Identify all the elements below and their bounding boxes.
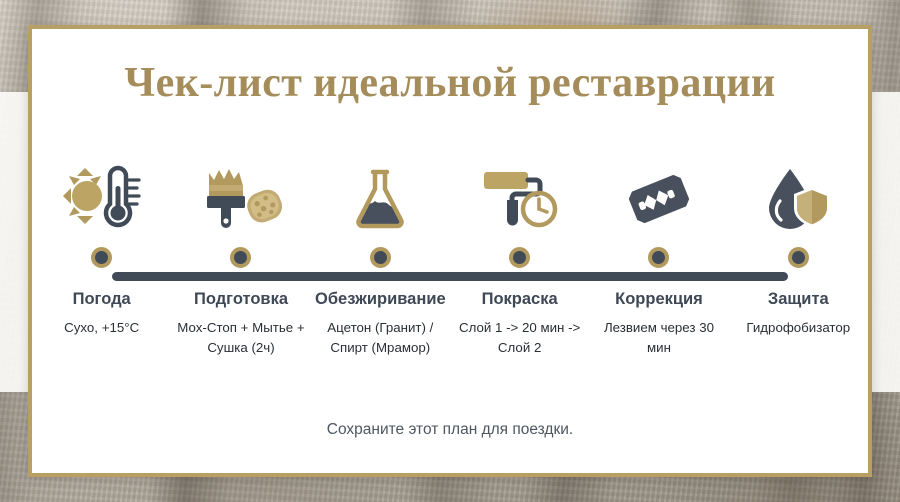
step-label: Обезжиривание — [315, 290, 446, 309]
step-description: Сухо, +15°C — [64, 318, 139, 338]
razor-blade-icon — [613, 155, 705, 243]
step-label: Покраска — [482, 290, 558, 309]
page-title: Чек-лист идеальной реставрации — [32, 59, 868, 107]
step-label: Защита — [768, 290, 829, 309]
step-description: Ацетон (Гранит) / Спирт (Мрамор) — [314, 318, 446, 358]
step-description: Гидрофобизатор — [746, 318, 850, 338]
timeline-node[interactable] — [91, 247, 112, 268]
step-label: Погода — [73, 290, 131, 309]
timeline-node[interactable] — [648, 247, 669, 268]
brush-sponge-icon — [195, 155, 287, 243]
timeline-node[interactable] — [230, 247, 251, 268]
water-drop-shield-icon — [752, 155, 844, 243]
footer-note: Сохраните этот план для поездки. — [32, 421, 868, 439]
step-description: Мох-Стоп + Мытье + Сушка (2ч) — [175, 318, 307, 358]
flask-icon — [334, 155, 426, 243]
timeline-step-degreasing[interactable]: Обезжиривание Ацетон (Гранит) / Спирт (М… — [311, 155, 450, 358]
sun-thermometer-icon — [56, 155, 148, 243]
checklist-card: Чек-лист идеальной реставрации — [28, 25, 872, 477]
paint-roller-clock-icon — [474, 155, 566, 243]
timeline-node[interactable] — [509, 247, 530, 268]
timeline-step-preparation[interactable]: Подготовка Мох-Стоп + Мытье + Сушка (2ч) — [171, 155, 310, 358]
timeline-step-protection[interactable]: Защита Гидрофобизатор — [729, 155, 868, 358]
timeline-step-correction[interactable]: Коррекция Лезвием через 30 мин — [589, 155, 728, 358]
timeline-steps: Погода Сухо, +15°C — [32, 155, 868, 358]
step-label: Коррекция — [615, 290, 703, 309]
timeline-node[interactable] — [370, 247, 391, 268]
timeline-step-painting[interactable]: Покраска Слой 1 -> 20 мин -> Слой 2 — [450, 155, 589, 358]
step-description: Лезвием через 30 мин — [593, 318, 725, 358]
timeline: Погода Сухо, +15°C — [32, 155, 868, 385]
step-description: Слой 1 -> 20 мин -> Слой 2 — [454, 318, 586, 358]
timeline-step-weather[interactable]: Погода Сухо, +15°C — [32, 155, 171, 358]
timeline-node[interactable] — [788, 247, 809, 268]
step-label: Подготовка — [194, 290, 288, 309]
